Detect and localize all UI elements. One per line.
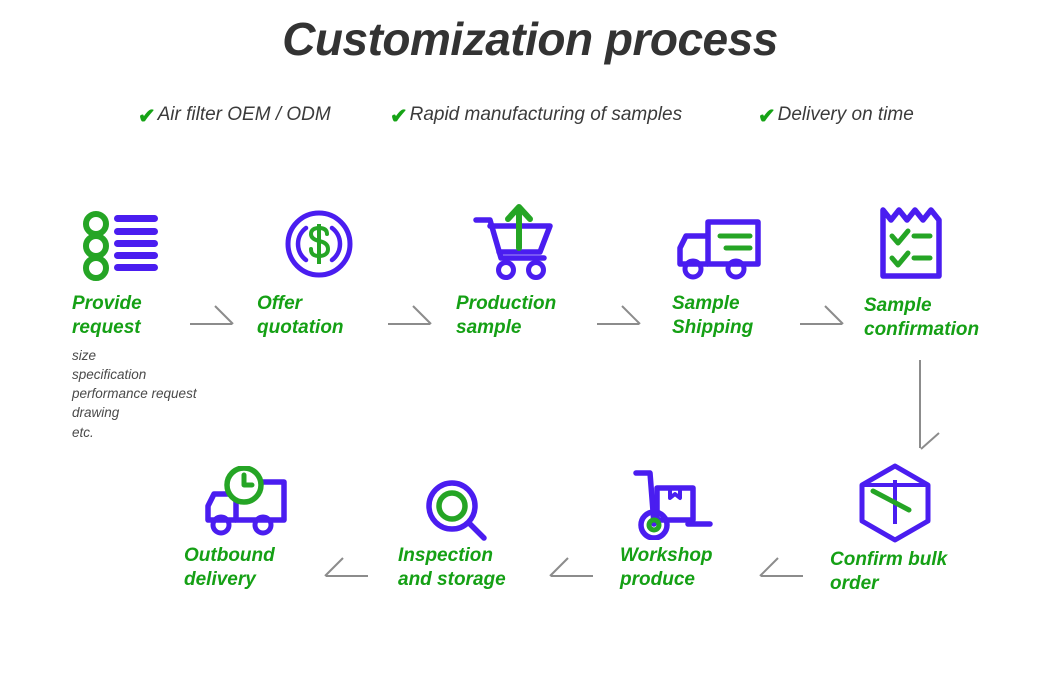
arrow-left-icon	[320, 554, 370, 588]
hex-box-icon	[855, 462, 935, 544]
page-title: Customization process	[0, 12, 1060, 66]
bullet-item: ✔ Air filter OEM / ODM	[138, 104, 331, 126]
step-workshop-produce	[630, 468, 710, 538]
check-icon: ✔	[390, 106, 408, 127]
check-icon: ✔	[138, 106, 156, 127]
step-label-outbound-delivery: Outbound delivery	[184, 544, 275, 592]
arrow-right-icon	[798, 302, 848, 336]
arrow-left-icon	[755, 554, 805, 588]
step-label-inspection-storage: Inspection and storage	[398, 544, 506, 592]
bullet-label: Air filter OEM / ODM	[158, 104, 331, 126]
step-outbound-delivery	[200, 466, 292, 540]
step-label-sample-confirmation: Sample confirmation	[864, 294, 979, 342]
step-label-offer-quotation: Offer quotation	[257, 292, 344, 340]
magnifier-icon	[424, 478, 490, 544]
coin-dollar-icon	[283, 208, 355, 280]
step-offer-quotation	[283, 208, 355, 280]
bullet-label: Rapid manufacturing of samples	[410, 104, 682, 126]
check-icon: ✔	[758, 106, 776, 127]
receipt-check-icon	[878, 204, 944, 282]
bullet-item: ✔ Delivery on time	[758, 104, 914, 126]
step-label-production-sample: Production sample	[456, 292, 556, 340]
step-label-sample-shipping: Sample Shipping	[672, 292, 753, 340]
step-sample-confirmation	[878, 204, 944, 282]
arrow-right-icon	[386, 302, 436, 336]
truck-clock-icon	[200, 466, 296, 542]
step-label-provide-request: Provide request	[72, 292, 142, 340]
arrow-left-icon	[545, 554, 595, 588]
step-inspection-storage	[424, 478, 488, 542]
arrow-right-icon	[188, 302, 238, 336]
step-sample-shipping	[676, 218, 768, 286]
hand-truck-icon	[630, 468, 714, 540]
shopping-cart-icon	[470, 202, 562, 284]
step-sub-provide-request: size specification performance request d…	[72, 346, 197, 442]
arrow-down-icon	[905, 358, 945, 454]
delivery-truck-icon	[676, 218, 768, 286]
step-provide-request	[80, 210, 250, 290]
arrow-right-icon	[595, 302, 645, 336]
step-confirm-bulk-order	[855, 462, 933, 542]
step-label-workshop-produce: Workshop produce	[620, 544, 713, 592]
bullet-label: Delivery on time	[778, 104, 914, 126]
feature-bullets: ✔ Air filter OEM / ODM ✔ Rapid manufactu…	[0, 104, 1060, 138]
step-production-sample	[470, 202, 560, 282]
bullet-item: ✔ Rapid manufacturing of samples	[390, 104, 682, 126]
step-label-confirm-bulk-order: Confirm bulk order	[830, 548, 947, 596]
checklist-icon	[80, 210, 160, 282]
